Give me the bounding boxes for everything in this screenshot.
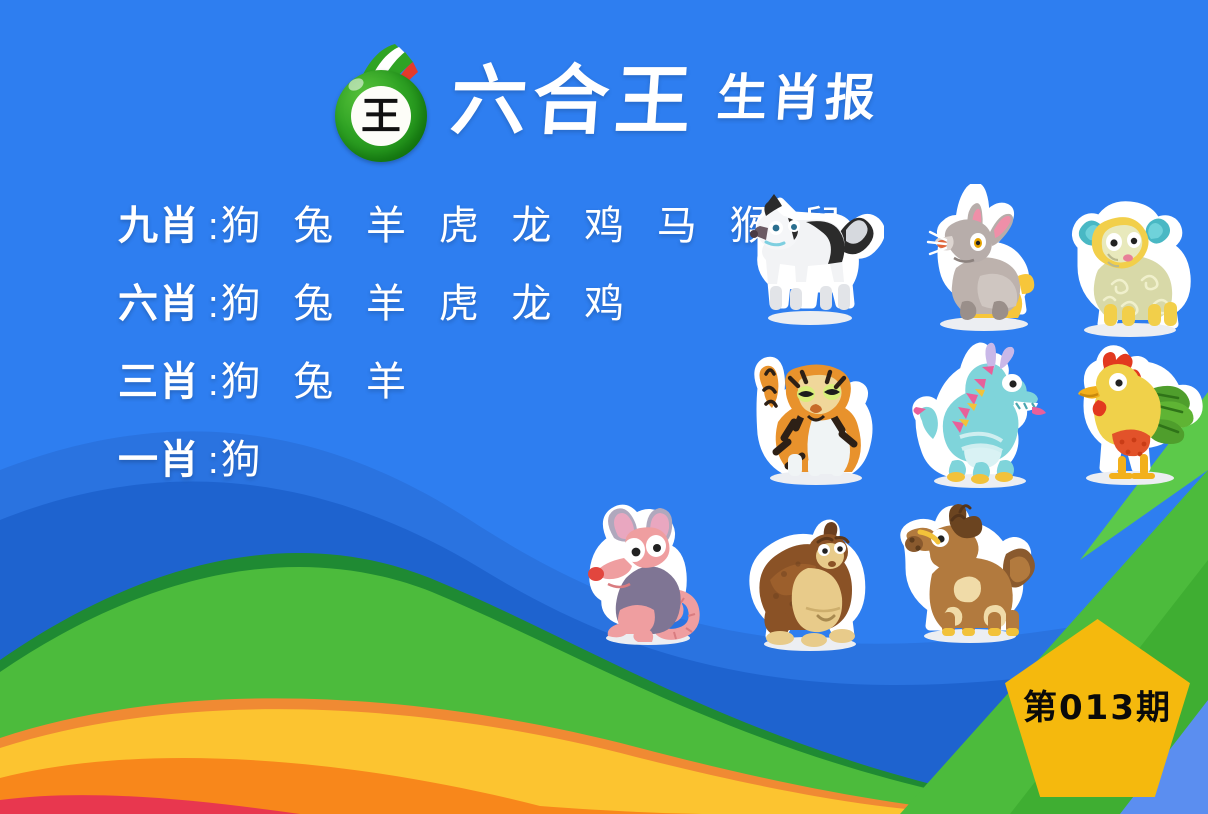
dragon-sticker (904, 341, 1052, 493)
prediction-row-label: 九肖 (118, 206, 200, 246)
goat-sticker (1056, 190, 1204, 342)
prediction-row-values: 狗 (221, 440, 271, 480)
prediction-row-label: 一肖 (118, 440, 200, 480)
prediction-row-separator: : (208, 206, 219, 249)
prediction-row-separator: : (208, 362, 219, 405)
prediction-row-values: 狗 兔 羊 (221, 362, 416, 402)
dog-sticker (736, 178, 884, 330)
issue-badge: 第013期 (1005, 619, 1190, 797)
monkey-sticker (736, 504, 884, 656)
rabbit-sticker (908, 184, 1056, 336)
zodiac-poster: 王 六合王 生肖报 九肖 : 狗 兔 羊 虎 龙 鸡 马 猴 鼠 六肖 : 狗 … (0, 0, 1208, 814)
prediction-row-separator: : (208, 440, 219, 483)
tiger-sticker (742, 338, 890, 490)
prediction-row-label: 三肖 (118, 362, 200, 402)
rooster-sticker (1056, 338, 1204, 490)
prediction-row-label: 六肖 (118, 284, 200, 324)
rat-sticker (574, 498, 722, 650)
zodiac-sticker-grid (556, 178, 1208, 678)
prediction-row-separator: : (208, 284, 219, 327)
issue-badge-text: 第013期 (1005, 619, 1190, 797)
